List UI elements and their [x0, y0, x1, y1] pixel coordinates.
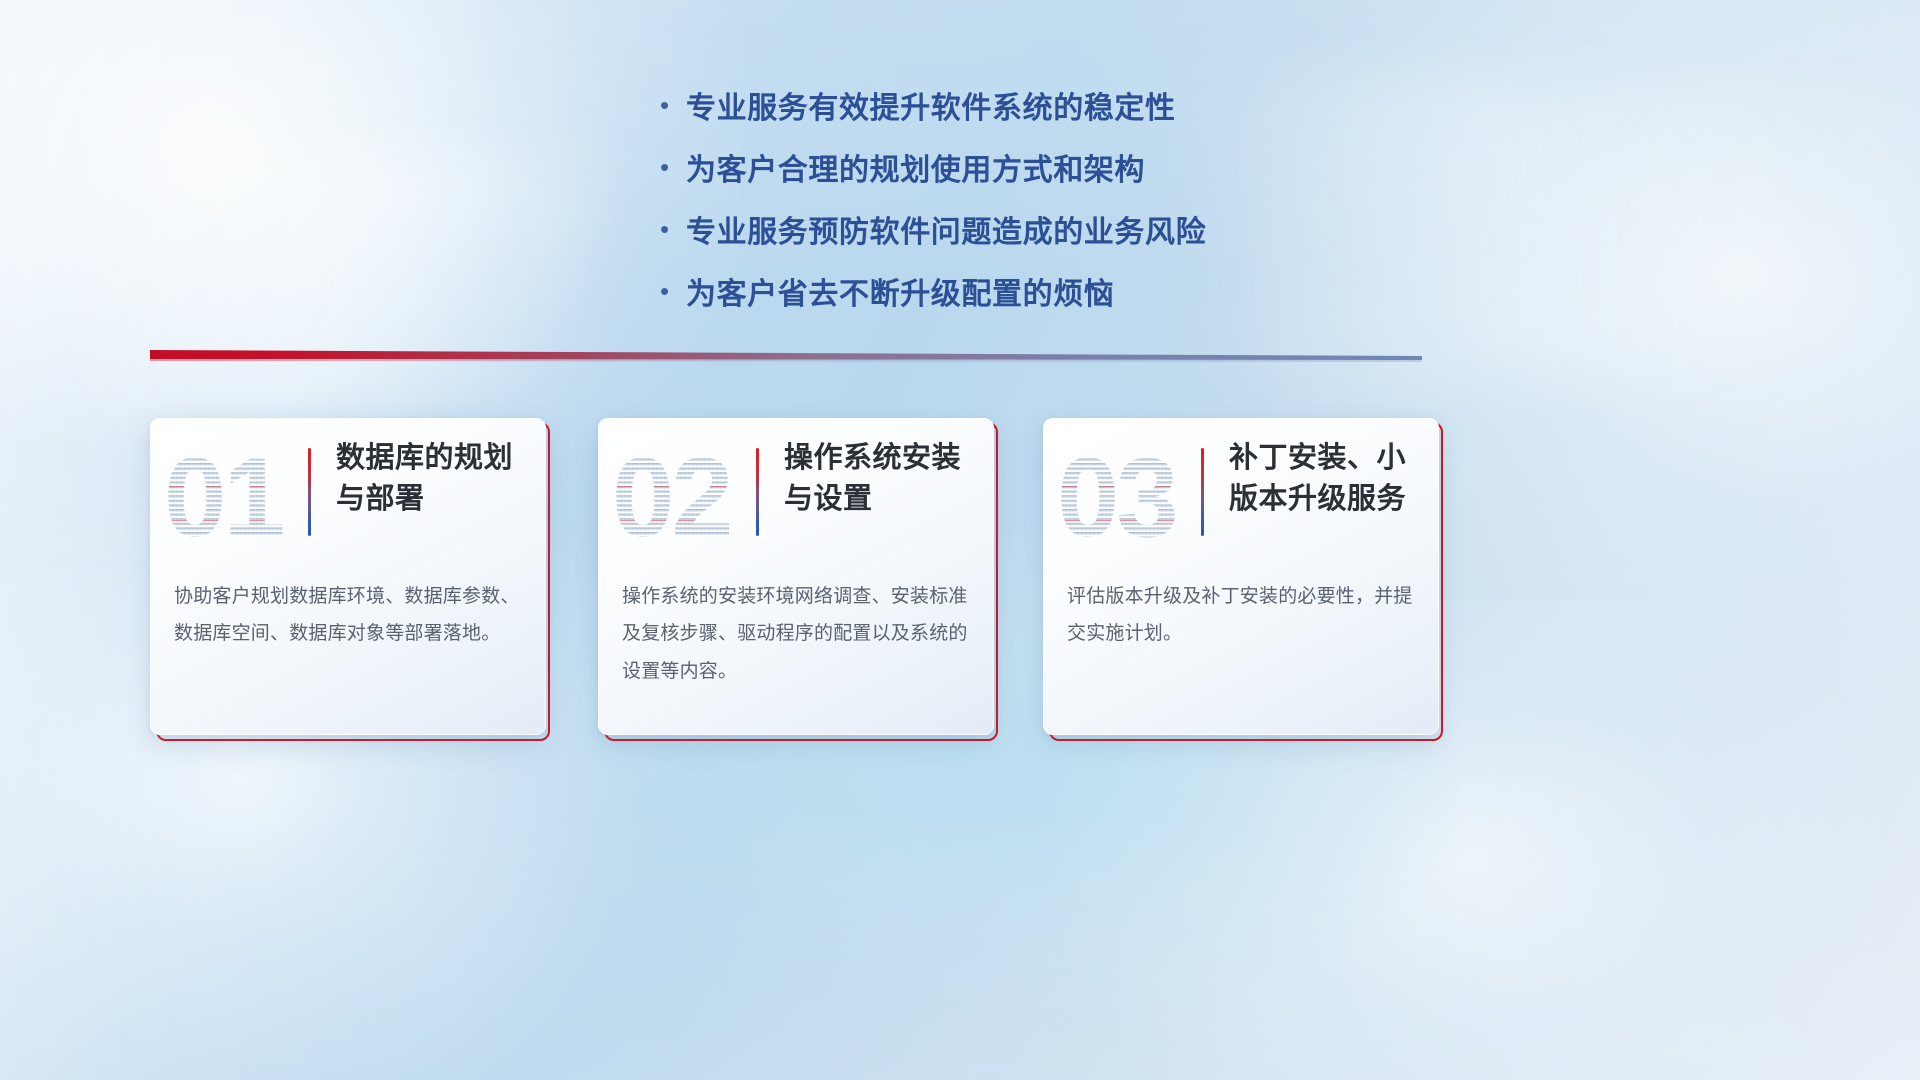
card-title: 数据库的规划 与部署: [336, 438, 536, 520]
svg-text:02: 02: [612, 440, 731, 556]
striped-number-glyph: 03 03: [1057, 440, 1187, 556]
bullet-item: • 为客户省去不断升级配置的烦恼: [660, 278, 1420, 340]
bullet-list: • 专业服务有效提升软件系统的稳定性 • 为客户合理的规划使用方式和架构 • 专…: [660, 92, 1420, 340]
bullet-dot-icon: •: [660, 154, 686, 180]
bullet-item-text: 为客户省去不断升级配置的烦恼: [686, 278, 1114, 313]
bullet-item: • 专业服务预防软件问题造成的业务风险: [660, 216, 1420, 278]
card-row: 01 01 数据库的规划 与部署 协助客户规划数据库环境、数据库参数、数据库空间…: [150, 418, 1770, 748]
card-title-line-2: 版本升级服务: [1229, 483, 1406, 515]
accent-divider-shape: [150, 348, 1422, 366]
service-card-01[interactable]: 01 01 数据库的规划 与部署 协助客户规划数据库环境、数据库参数、数据库空间…: [150, 418, 550, 741]
card-number-02: 02 02: [612, 440, 742, 556]
card-number-03: 03 03: [1057, 440, 1187, 556]
striped-number-glyph: 02 02: [612, 440, 742, 556]
card-title-line-2: 与部署: [336, 483, 425, 515]
bullet-item-text: 为客户合理的规划使用方式和架构: [686, 154, 1145, 189]
card-header: 01 01 数据库的规划 与部署: [150, 432, 546, 564]
card-body-text: 协助客户规划数据库环境、数据库参数、数据库空间、数据库对象等部署落地。: [174, 578, 526, 653]
bullet-item-text: 专业服务预防软件问题造成的业务风险: [686, 216, 1206, 251]
svg-text:03: 03: [1057, 440, 1176, 556]
card-title-accent-bar: [756, 448, 759, 536]
accent-divider: [150, 348, 1422, 366]
card-title: 操作系统安装 与设置: [784, 438, 984, 520]
bullet-dot-icon: •: [660, 216, 686, 242]
card-title: 补丁安装、小 版本升级服务: [1229, 438, 1429, 520]
card-title-line-1: 补丁安装、小: [1229, 442, 1406, 474]
bullet-dot-icon: •: [660, 278, 686, 304]
card-title-accent-bar: [308, 448, 311, 536]
striped-number-glyph: 01 01: [164, 440, 294, 556]
bullet-dot-icon: •: [660, 92, 686, 118]
card-header: 02 02 操作系统安装 与设置: [598, 432, 994, 564]
svg-text:01: 01: [164, 440, 283, 556]
card-title-accent-bar: [1201, 448, 1204, 536]
card-face: 02 02 操作系统安装 与设置 操作系统的安装环境网络调查、安装标准及复核步骤…: [598, 418, 994, 735]
bullet-item-text: 专业服务有效提升软件系统的稳定性: [686, 92, 1176, 127]
service-card-03[interactable]: 03 03 补丁安装、小 版本升级服务 评估版本升级及补丁安装的必要性，并提交实…: [1043, 418, 1443, 741]
card-title-line-1: 操作系统安装: [784, 442, 961, 474]
card-body-text: 操作系统的安装环境网络调查、安装标准及复核步骤、驱动程序的配置以及系统的设置等内…: [622, 578, 974, 690]
card-number-01: 01 01: [164, 440, 294, 556]
bullet-item: • 专业服务有效提升软件系统的稳定性: [660, 92, 1420, 154]
service-card-02[interactable]: 02 02 操作系统安装 与设置 操作系统的安装环境网络调查、安装标准及复核步骤…: [598, 418, 998, 741]
bullet-item: • 为客户合理的规划使用方式和架构: [660, 154, 1420, 216]
card-title-line-2: 与设置: [784, 483, 873, 515]
card-header: 03 03 补丁安装、小 版本升级服务: [1043, 432, 1439, 564]
card-face: 01 01 数据库的规划 与部署 协助客户规划数据库环境、数据库参数、数据库空间…: [150, 418, 546, 735]
card-body-text: 评估版本升级及补丁安装的必要性，并提交实施计划。: [1067, 578, 1419, 653]
card-face: 03 03 补丁安装、小 版本升级服务 评估版本升级及补丁安装的必要性，并提交实…: [1043, 418, 1439, 735]
card-title-line-1: 数据库的规划: [336, 442, 513, 474]
